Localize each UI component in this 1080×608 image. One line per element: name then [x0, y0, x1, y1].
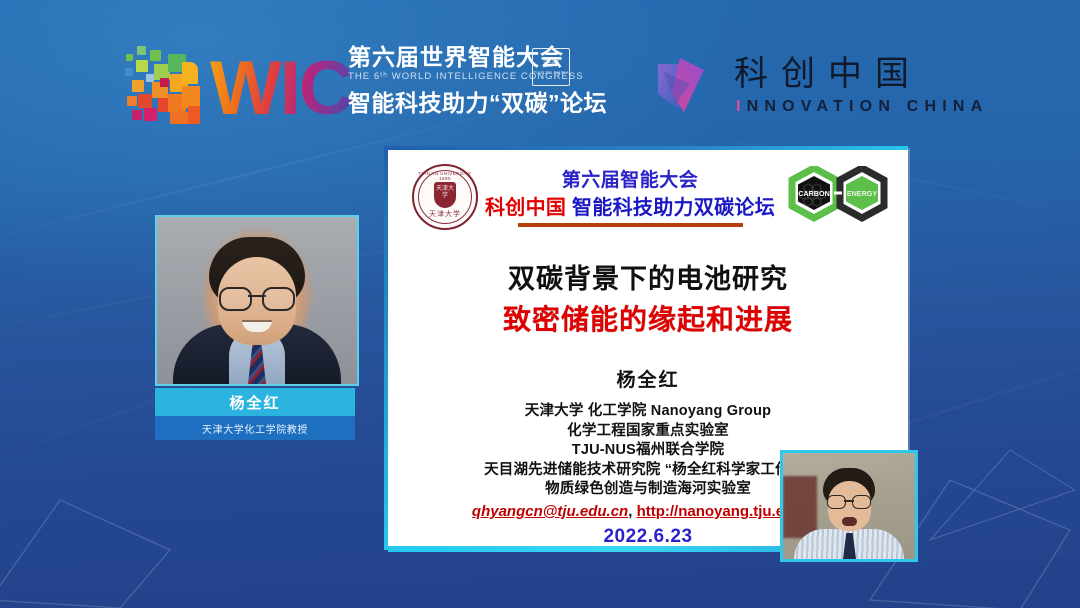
- pip-wall-decor: [783, 476, 817, 537]
- event-header: WIC 第六届世界智能大会 THE 6ᵗʰ WORLD INTELLIGENCE…: [0, 0, 1080, 150]
- portrait-glasses: [219, 287, 295, 307]
- pip-glasses: [827, 495, 871, 507]
- speaker-title: 天津大学化工学院教授: [202, 421, 308, 436]
- innovation-en-initial: I: [736, 98, 747, 115]
- wic-wordmark: WIC: [210, 46, 352, 132]
- slide-title-sub: 致密储能的缘起和进展: [388, 302, 908, 338]
- forum-title-cn: 智能科技助力“双碳”论坛: [348, 88, 608, 118]
- slide-header-line1: 第六届智能大会: [484, 168, 776, 194]
- seal-bottom-text: 天津大学: [414, 209, 476, 219]
- innovation-china-logo: 科创中国 INNOVATION CHINA: [650, 52, 950, 124]
- contact-email[interactable]: qhyangcn@tju.edu.cn: [472, 503, 628, 520]
- seal-arc-text: TIANJIN UNIVERSITY 1895: [414, 171, 476, 181]
- bg-polygon-decoration: [0, 430, 200, 608]
- contact-separator: ,: [628, 503, 636, 520]
- speaker-title-plate: 天津大学化工学院教授: [155, 416, 355, 440]
- innovation-en-rest: NNOVATION CHINA: [747, 98, 989, 115]
- slide-top-accent: [388, 146, 908, 150]
- hex-energy-label: ENERGY: [847, 189, 878, 198]
- slide-title-main: 双碳背景下的电池研究: [388, 262, 908, 296]
- affiliation-line: 化学工程国家重点实验室: [388, 422, 908, 442]
- speaker-name-plate: 杨全红: [155, 388, 355, 416]
- carbon-energy-hexagon-logo-icon: CARBON ENERGY: [784, 166, 892, 224]
- wic-logo: WIC: [124, 40, 342, 132]
- innovation-china-cn: 科创中国: [734, 54, 922, 94]
- pip-mouth: [842, 517, 857, 526]
- speaker-portrait-image: [157, 217, 357, 384]
- city-badge-en: TIANJIN CHINA: [533, 70, 569, 76]
- slide-header-line2: 科创中国 智能科技助力双碳论坛: [484, 194, 776, 222]
- slide-header-underline: [518, 223, 743, 227]
- seal-shield: 天津大学: [434, 182, 456, 208]
- slide-header-line2-blue: 智能科技助力双碳论坛: [566, 197, 775, 219]
- broadcast-stage: WIC 第六届世界智能大会 THE 6ᵗʰ WORLD INTELLIGENCE…: [0, 0, 1080, 608]
- seal-shield-text: 天津大学: [434, 186, 456, 200]
- speaker-card: 杨全红 天津大学化工学院教授: [155, 215, 355, 455]
- slide-author-name: 杨全红: [388, 368, 908, 394]
- affiliation-line: 天津大学 化工学院 Nanoyang Group: [388, 402, 908, 422]
- slide-header-text: 第六届智能大会 科创中国 智能科技助力双碳论坛: [484, 168, 776, 227]
- tianjin-university-seal-icon: TIANJIN UNIVERSITY 1895 天津大学 天津大学: [412, 164, 478, 230]
- speaker-name: 杨全红: [229, 392, 280, 413]
- speaker-webcam-pip[interactable]: [780, 450, 918, 562]
- city-badge-cn: 天津: [543, 59, 559, 68]
- wic-pixel-head-icon: [124, 44, 206, 130]
- innovation-china-en: INNOVATION CHINA: [736, 97, 988, 117]
- innovation-china-mark-icon: [650, 54, 716, 120]
- speaker-photo-frame: [155, 215, 359, 386]
- tianjin-city-badge: 天津 TIANJIN CHINA: [532, 48, 570, 86]
- slide-header-line2-red: 科创中国: [485, 197, 566, 219]
- hex-carbon-label: CARBON: [798, 189, 830, 198]
